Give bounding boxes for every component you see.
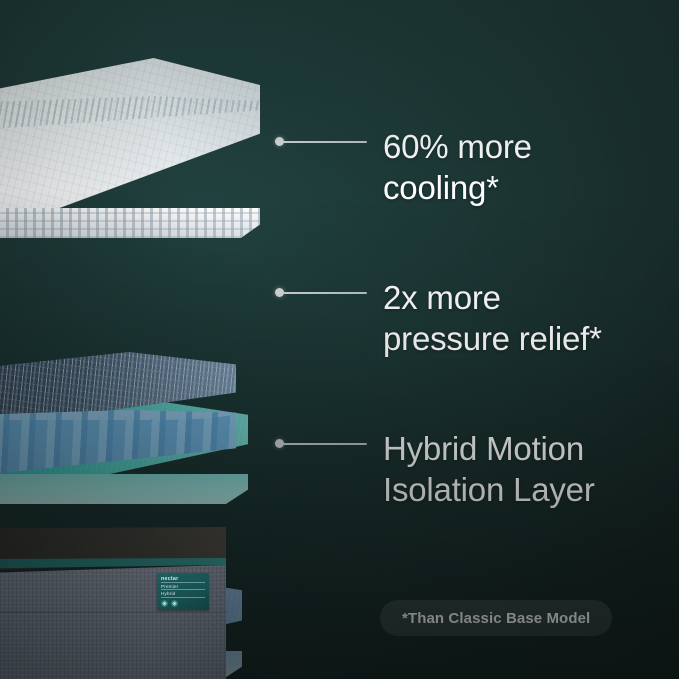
coil-pocket-row [0,410,236,476]
leader-line-pressure-relief [275,277,383,318]
layer-quilted-cooling-cover [0,58,260,238]
callout-pressure-relief: 2x more pressure relief* [275,277,602,359]
fabric-seam [0,611,226,613]
callout-cooling: 60% more cooling* [275,126,532,208]
callout-cooling-text: 60% more cooling* [383,126,532,208]
leader-stroke [283,292,367,294]
cover-edge-texture [0,208,260,238]
footnote-badge: *Than Classic Base Model [380,600,612,636]
leader-line-cooling [275,126,383,167]
leader-line-motion-isolation [275,428,383,469]
brand-label-line-1: Premier [161,584,205,591]
layer-pocketed-coil-unit [0,352,236,492]
brand-label: nectar Premier Hybrid [157,573,209,610]
brand-label-badges [161,600,205,607]
leader-stroke [283,141,367,143]
product-feature-graphic: nectar Premier Hybrid [0,0,679,679]
leader-stroke [283,443,367,445]
callout-pressure-relief-text: 2x more pressure relief* [383,277,602,359]
brand-label-line-2: Hybrid [161,591,205,598]
snowflake-icon [161,600,168,607]
callout-motion-isolation-text: Hybrid Motion Isolation Layer [383,428,595,510]
brand-name: nectar [161,576,205,583]
mattress-layer-stack: nectar Premier Hybrid [0,0,300,679]
snowflake-icon [171,600,178,607]
callout-motion-isolation: Hybrid Motion Isolation Layer [275,428,595,510]
cover-front-edge [0,208,260,238]
